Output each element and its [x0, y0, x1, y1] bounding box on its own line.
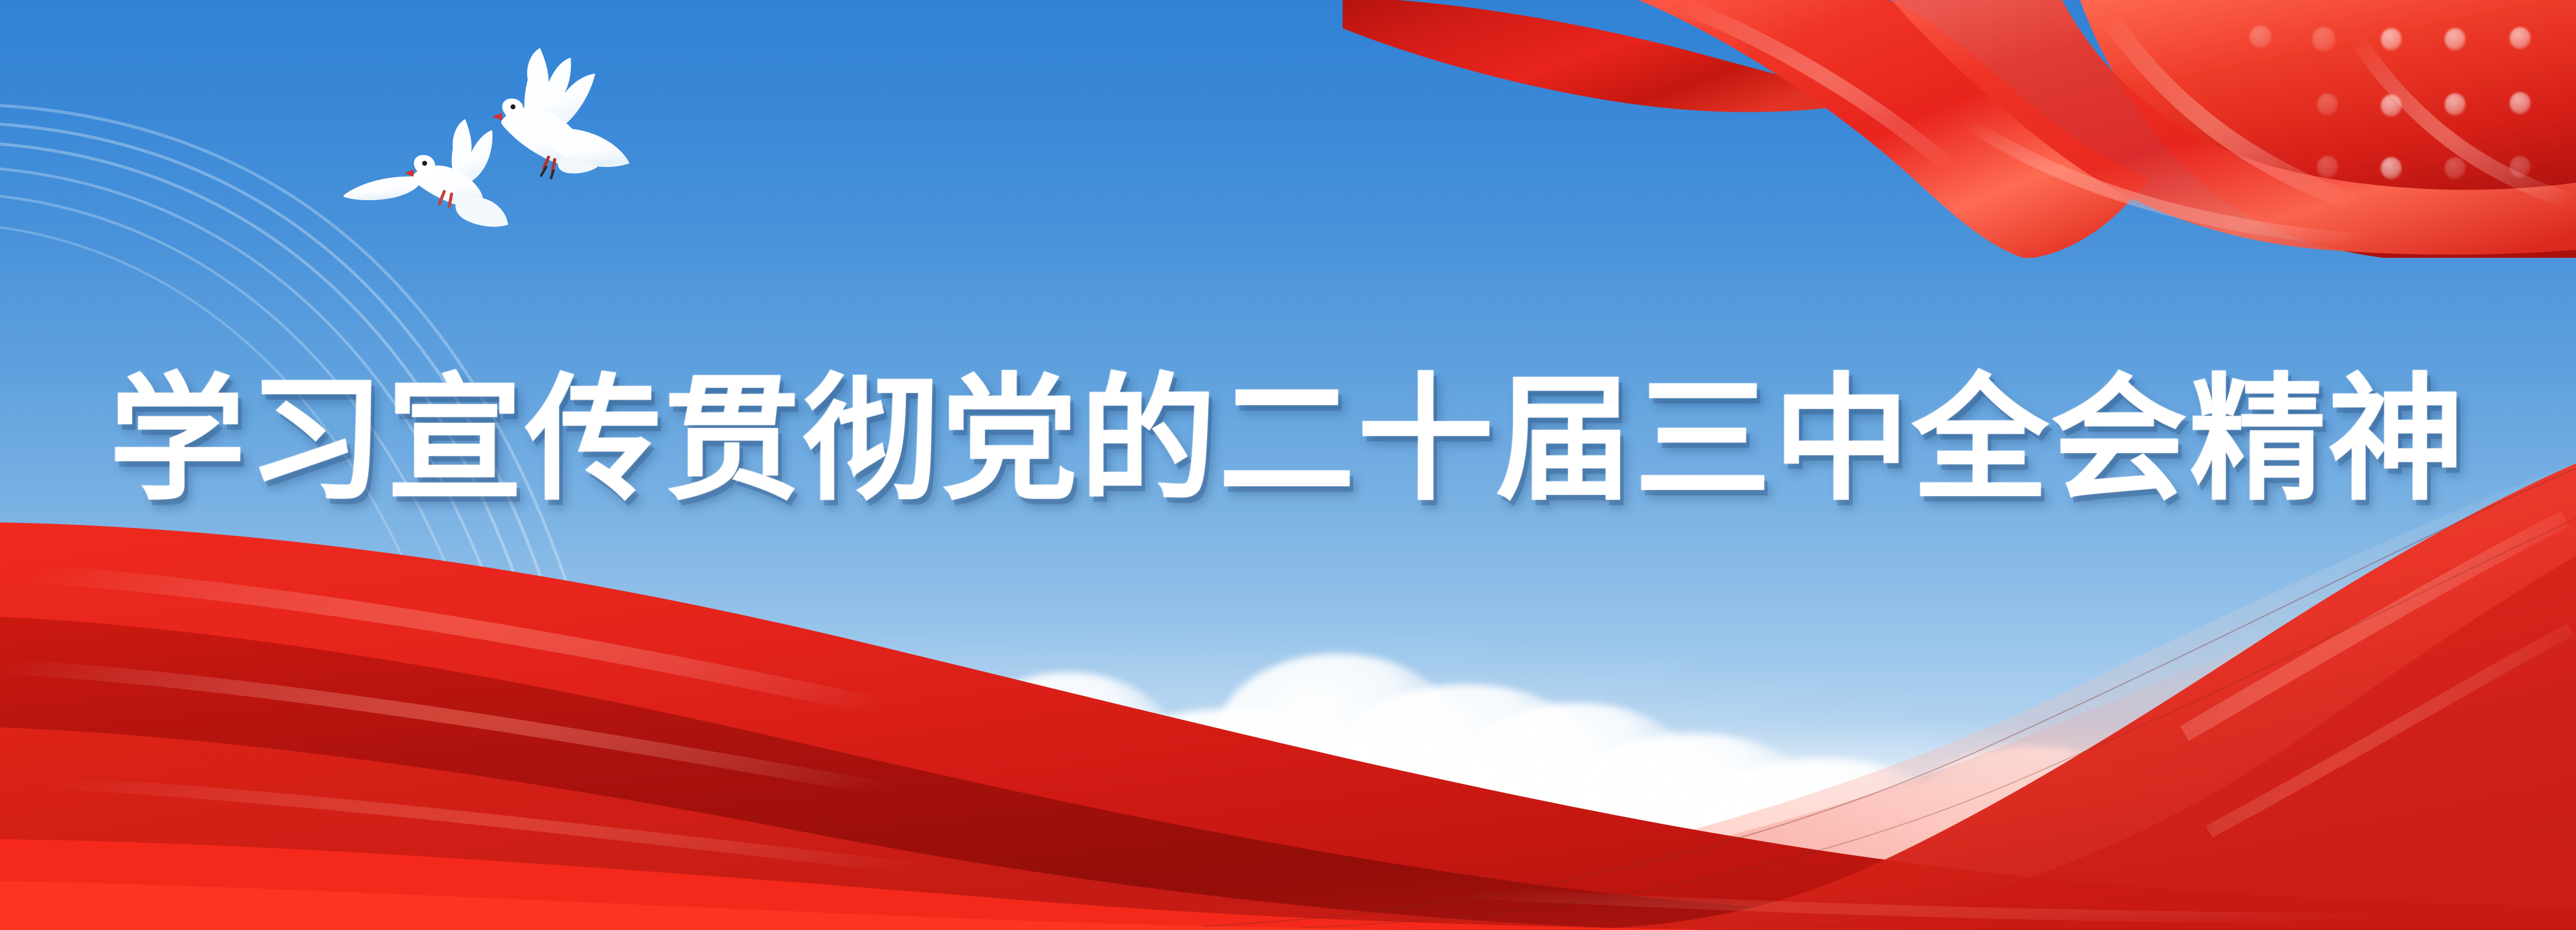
bokeh-dot: [2510, 92, 2531, 114]
bokeh-dot: [2317, 93, 2338, 115]
bokeh-dot: [2381, 157, 2402, 179]
bokeh-dots: [2245, 0, 2576, 203]
banner-root: 学习宣传贯彻党的二十届三中全会精神: [0, 0, 2576, 930]
bokeh-dot: [2250, 26, 2272, 48]
bokeh-dot: [2510, 156, 2531, 178]
dove-left: [344, 119, 508, 227]
bokeh-dot: [2445, 157, 2466, 179]
bokeh-dot: [2445, 93, 2466, 115]
dove-right: [492, 48, 630, 178]
bokeh-dot: [2317, 156, 2338, 178]
bokeh-dot: [2510, 27, 2531, 49]
bokeh-dot: [2381, 95, 2402, 117]
doves-group: [344, 37, 632, 270]
bokeh-dot: [2445, 28, 2466, 50]
bokeh-dot: [2381, 28, 2402, 50]
red-silk-wave: [0, 463, 2576, 930]
bokeh-dot: [2312, 27, 2335, 52]
